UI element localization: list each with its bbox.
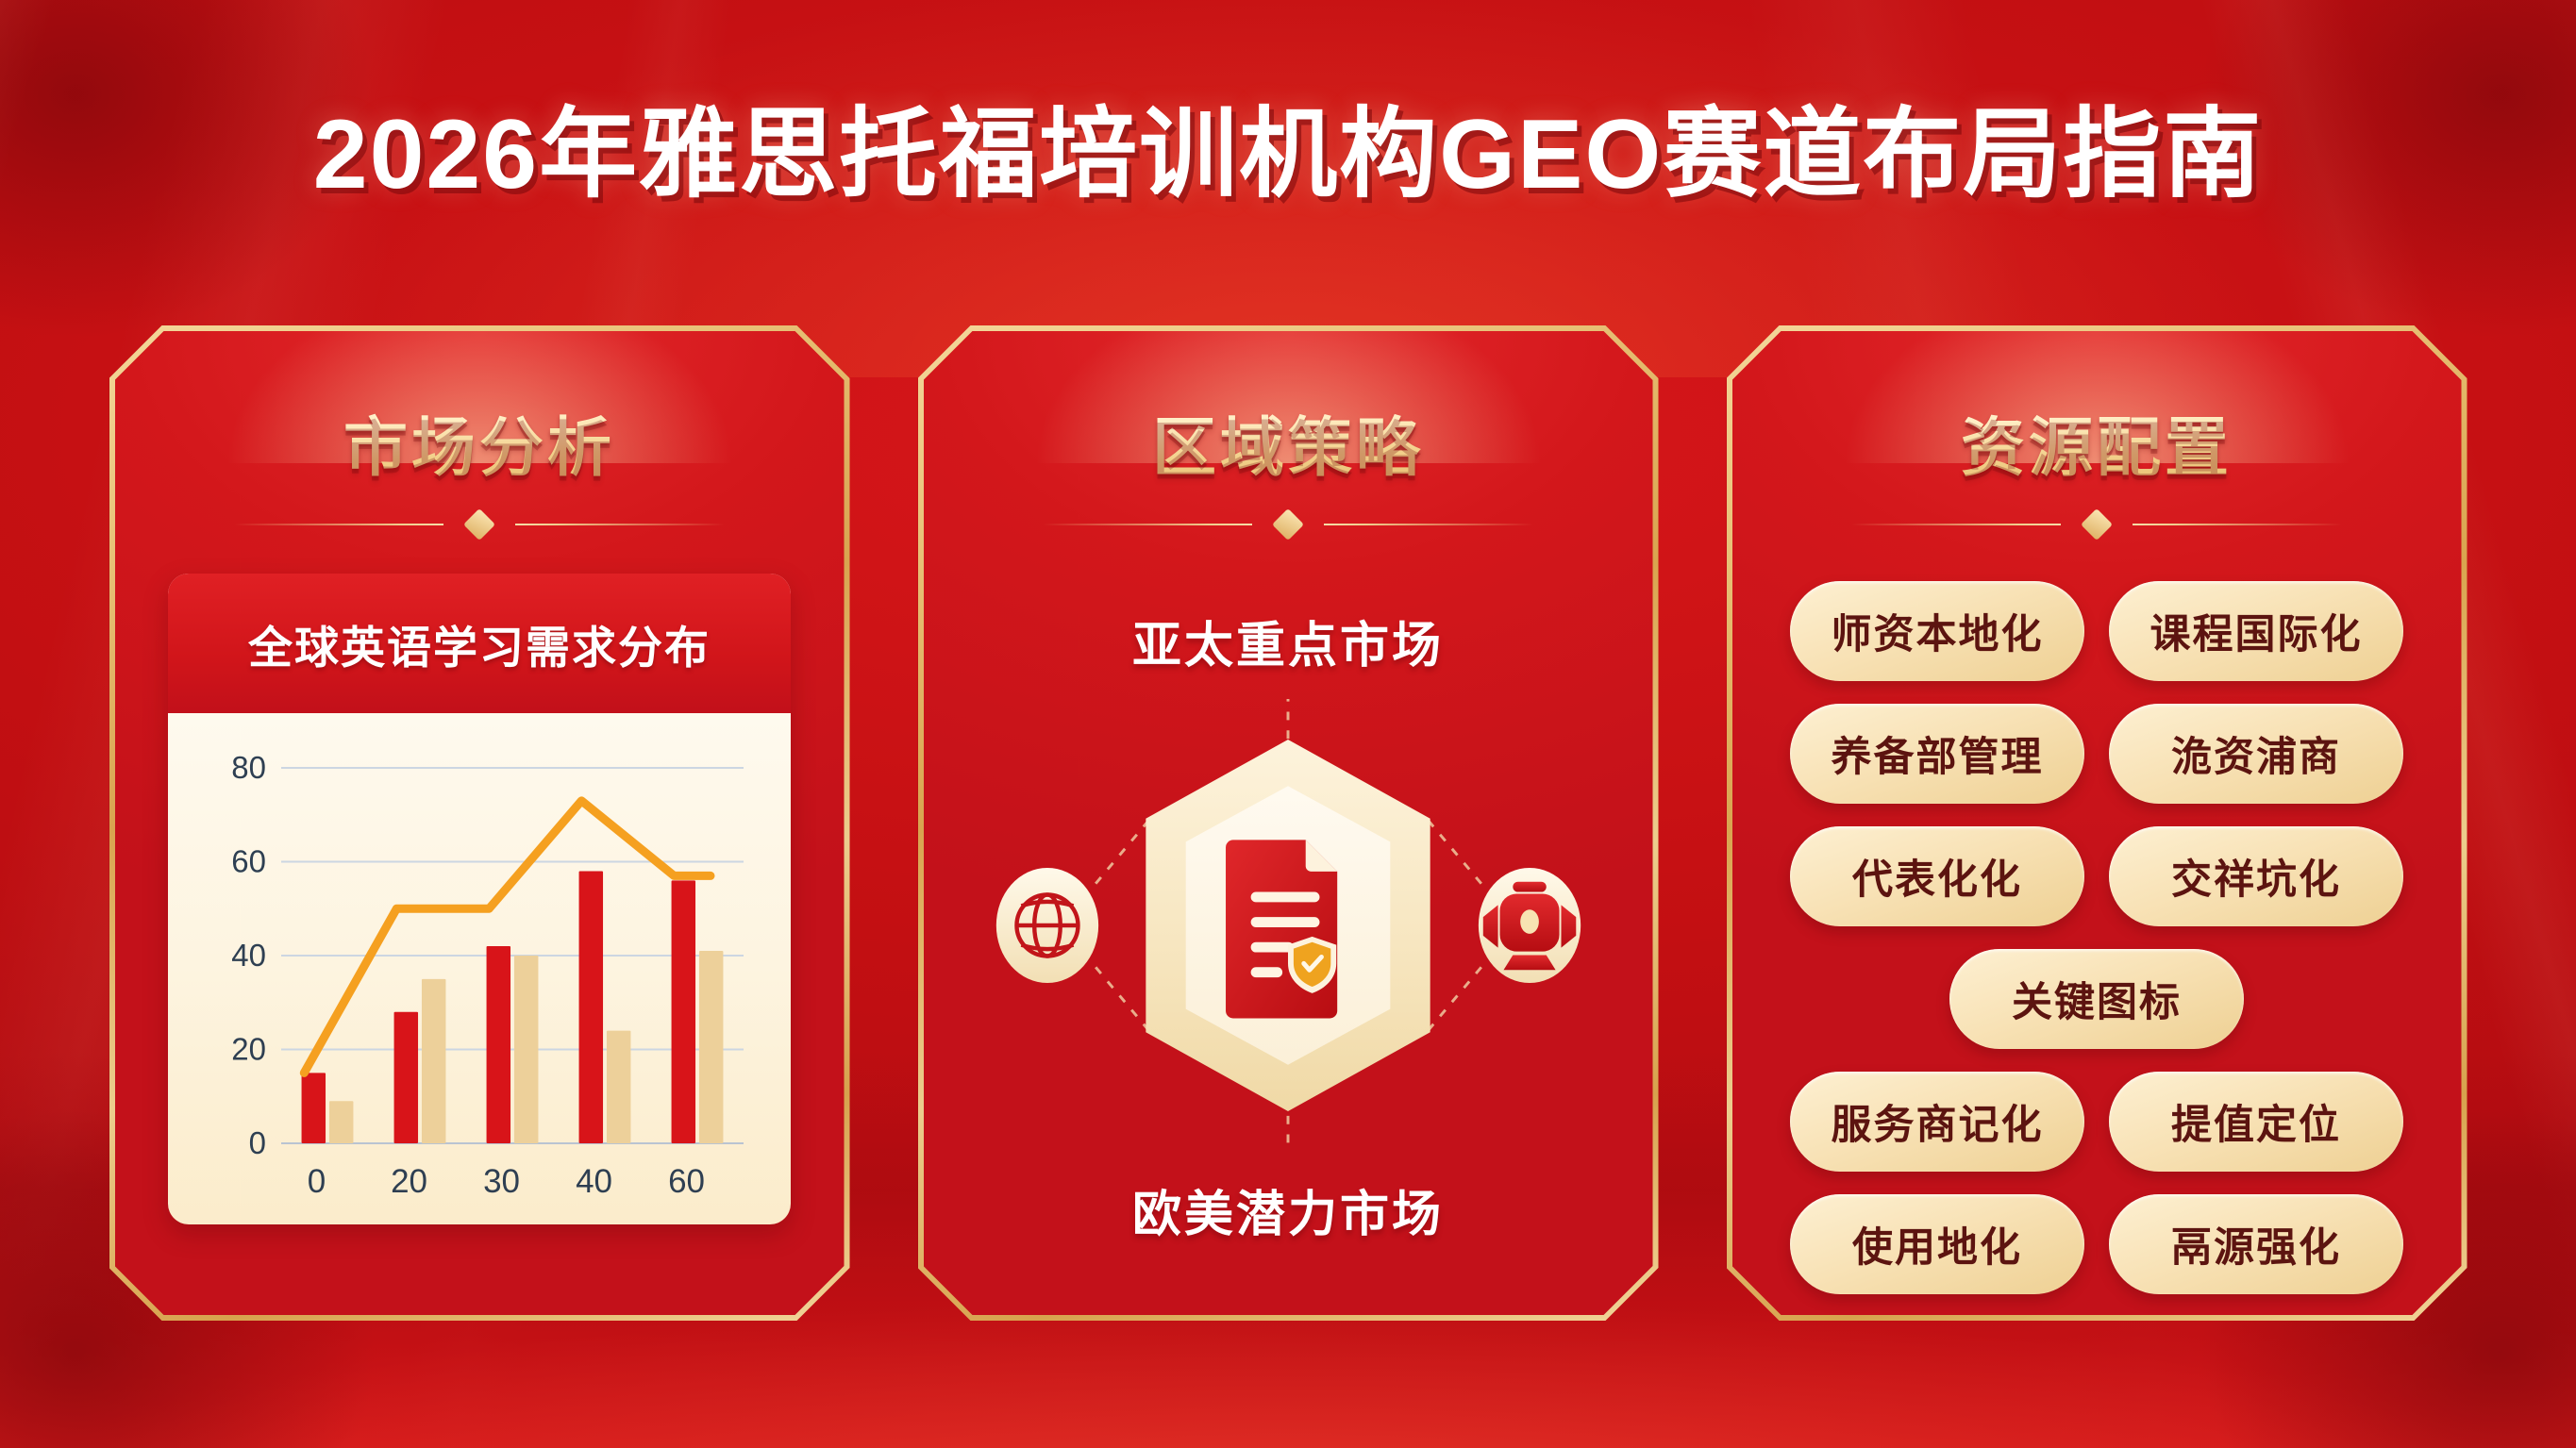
chart-x-tick-label: 40	[576, 1163, 612, 1200]
document-check-icon	[1226, 840, 1337, 1018]
card-inner: 区域策略 亚太重点市场	[924, 331, 1653, 1315]
chart-svg: 020406080020304060	[200, 751, 759, 1224]
chart-bar-gold	[422, 979, 445, 1143]
chart-x-tick-label: 60	[668, 1163, 705, 1200]
card-divider	[1043, 513, 1533, 536]
divider-line-right	[1324, 524, 1533, 525]
resource-tag[interactable]: 鬲源强化	[2109, 1194, 2403, 1294]
card-inner: 市场分析 全球英语学习需求分布 020406080020304060	[115, 331, 845, 1315]
divider-line-left	[1851, 524, 2061, 525]
resource-tag[interactable]: 交祥坑化	[2109, 826, 2403, 926]
chart-y-tick-label: 80	[231, 751, 266, 785]
resource-tag[interactable]: 提值定位	[2109, 1072, 2403, 1172]
chart-plot-area: 020406080020304060	[168, 713, 791, 1224]
card-regional-strategy[interactable]: 区域策略 亚太重点市场	[918, 325, 1659, 1321]
divider-line-right	[2133, 524, 2342, 525]
chart-x-tick-label: 0	[308, 1163, 326, 1200]
chart-header: 全球英语学习需求分布	[168, 574, 791, 713]
divider-diamond-icon	[463, 508, 495, 541]
resource-tag[interactable]: 使用地化	[1790, 1194, 2084, 1294]
chart-x-tick-label: 20	[391, 1163, 427, 1200]
chart-bar-red	[394, 1012, 418, 1143]
chart-y-tick-label: 0	[249, 1125, 266, 1160]
chart-bar-red	[487, 946, 510, 1143]
resource-tag[interactable]: 服务商记化	[1790, 1072, 2084, 1172]
resource-tag[interactable]: 课程国际化	[2109, 581, 2403, 681]
hexagon-diagram-svg	[924, 699, 1653, 1152]
chart-x-tick-label: 30	[483, 1163, 520, 1200]
region-label-asia-pacific: 亚太重点市场	[924, 606, 1653, 676]
divider-diamond-icon	[2081, 508, 2113, 541]
card-divider	[1851, 513, 2342, 536]
card-title-regional-strategy: 区域策略	[924, 395, 1653, 489]
resource-tag[interactable]: 养备部管理	[1790, 704, 2084, 804]
divider-line-left	[234, 524, 443, 525]
divider-line-left	[1043, 524, 1252, 525]
lantern-icon-badge	[1478, 868, 1580, 983]
divider-line-right	[515, 524, 725, 525]
resource-tag[interactable]: 关键图标	[1949, 949, 2244, 1049]
chart-bar-red	[302, 1073, 326, 1143]
chart-y-tick-label: 60	[231, 844, 266, 879]
card-divider	[234, 513, 725, 536]
hexagon-diagram	[924, 699, 1653, 1152]
resource-tag[interactable]: 师资本地化	[1790, 581, 2084, 681]
chart-bar-gold	[699, 951, 723, 1143]
title-area: 2026年雅思托福培训机构GEO赛道布局指南	[0, 74, 2576, 216]
chart-bar-gold	[514, 956, 538, 1143]
chart-title: 全球英语学习需求分布	[248, 611, 711, 676]
chart-bar-gold	[329, 1101, 353, 1143]
chart-y-tick-label: 20	[231, 1032, 266, 1067]
resource-tag[interactable]: 代表化化	[1790, 826, 2084, 926]
chart-bar-red	[579, 871, 603, 1143]
card-title-resource-allocation: 资源配置	[1732, 395, 2462, 489]
globe-icon-badge	[995, 868, 1097, 983]
card-resource-allocation[interactable]: 资源配置 师资本地化课程国际化养备部管理洈资浦商代表化化交祥坑化关键图标服务商记…	[1727, 325, 2467, 1321]
resource-tag[interactable]: 洈资浦商	[2109, 704, 2403, 804]
card-inner: 资源配置 师资本地化课程国际化养备部管理洈资浦商代表化化交祥坑化关键图标服务商记…	[1732, 331, 2462, 1315]
cards-row: 市场分析 全球英语学习需求分布 020406080020304060 区域策略	[0, 325, 2576, 1321]
resource-tag-list: 师资本地化课程国际化养备部管理洈资浦商代表化化交祥坑化关键图标服务商记化提值定位…	[1787, 581, 2407, 1294]
divider-diamond-icon	[1272, 508, 1304, 541]
page-title: 2026年雅思托福培训机构GEO赛道布局指南	[313, 74, 2264, 216]
resource-tag-row-centered: 关键图标	[1787, 949, 2407, 1049]
chart-panel[interactable]: 全球英语学习需求分布 020406080020304060	[168, 574, 791, 1224]
chart-bar-red	[672, 880, 695, 1143]
card-market-analysis[interactable]: 市场分析 全球英语学习需求分布 020406080020304060	[109, 325, 850, 1321]
card-title-market-analysis: 市场分析	[115, 395, 845, 489]
chart-y-tick-label: 40	[231, 938, 266, 973]
chart-bar-gold	[607, 1031, 630, 1143]
region-label-europe-america: 欧美潜力市场	[924, 1174, 1653, 1245]
